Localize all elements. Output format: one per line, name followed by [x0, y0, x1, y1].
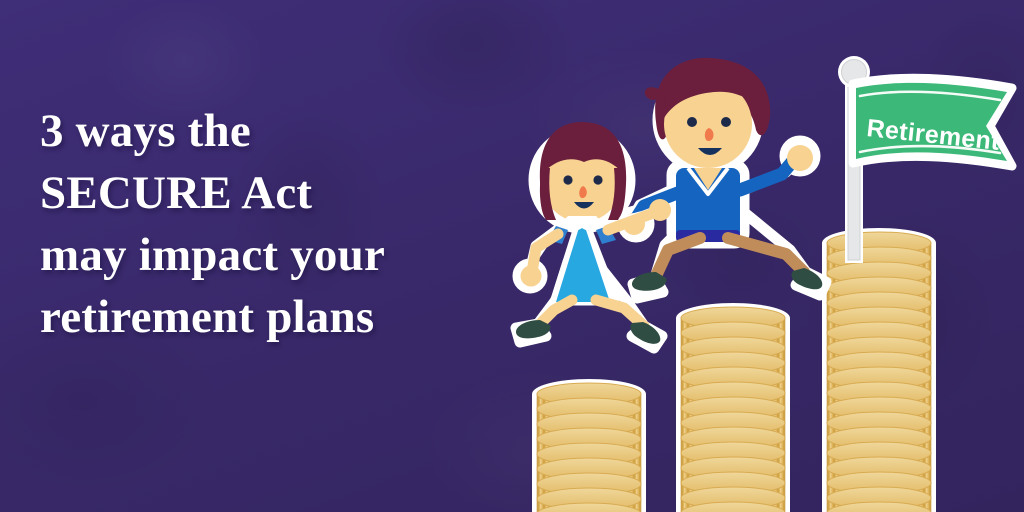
- headline-line-3: may impact your: [40, 224, 540, 286]
- coin-stack-short: [532, 379, 646, 512]
- coin-stack-medium: [676, 303, 790, 512]
- secure-act-banner: 3 ways the SECURE Act may impact your re…: [0, 0, 1024, 512]
- coin-stack-tall: [822, 228, 936, 512]
- page-title: 3 ways the SECURE Act may impact your re…: [40, 100, 540, 348]
- headline-line-1: 3 ways the: [40, 100, 540, 162]
- character-boy: [623, 58, 826, 298]
- headline-line-4: retirement plans: [40, 286, 540, 348]
- headline-line-2: SECURE Act: [40, 162, 540, 224]
